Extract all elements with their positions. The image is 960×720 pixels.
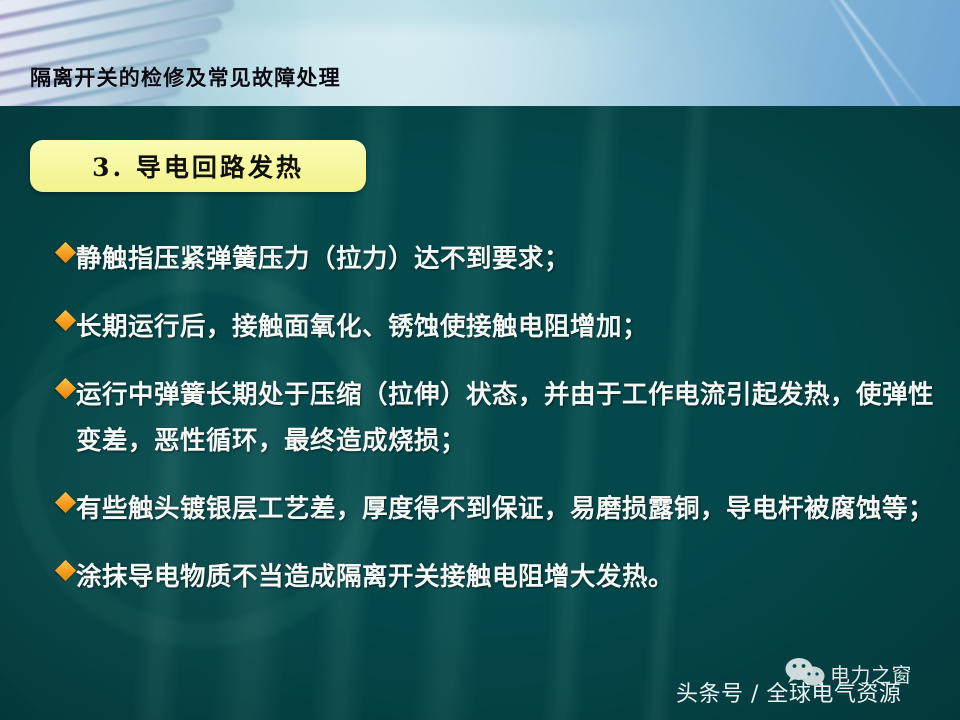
list-item: 涂抹导电物质不当造成隔离开关接触电阻增大发热。 [58, 554, 938, 600]
diamond-bullet-icon [55, 492, 76, 513]
wechat-account-name: 电力之窗 [830, 659, 912, 688]
slide-header-band: 隔离开关的检修及常见故障处理 [0, 0, 960, 106]
section-heading-chip: 3. 导电回路发热 [30, 140, 366, 192]
section-heading-text: 3. 导电回路发热 [92, 148, 304, 184]
list-item: 长期运行后，接触面氧化、锈蚀使接触电阻增加； [58, 304, 938, 350]
list-item-text: 涂抹导电物质不当造成隔离开关接触电阻增大发热。 [76, 554, 674, 600]
list-item-text: 运行中弹簧长期处于压缩（拉伸）状态，并由于工作电流引起发热，使弹性变差，恶性循环… [76, 372, 938, 464]
page-title: 隔离开关的检修及常见故障处理 [30, 62, 341, 92]
bullet-list: 静触指压紧弹簧压力（拉力）达不到要求； 长期运行后，接触面氧化、锈蚀使接触电阻增… [58, 236, 938, 622]
list-item-text: 有些触头镀银层工艺差，厚度得不到保证，易磨损露铜，导电杆被腐蚀等； [76, 486, 934, 532]
list-item-text: 长期运行后，接触面氧化、锈蚀使接触电阻增加； [76, 304, 648, 350]
diamond-bullet-icon [55, 310, 76, 331]
diamond-bullet-icon [55, 242, 76, 263]
diamond-bullet-icon [55, 378, 76, 399]
list-item-text: 静触指压紧弹簧压力（拉力）达不到要求； [76, 236, 570, 282]
list-item: 有些触头镀银层工艺差，厚度得不到保证，易磨损露铜，导电杆被腐蚀等； [58, 486, 938, 532]
wechat-watermark: 电力之窗 [784, 656, 912, 690]
list-item: 运行中弹簧长期处于压缩（拉伸）状态，并由于工作电流引起发热，使弹性变差，恶性循环… [58, 372, 938, 464]
presentation-slide: 隔离开关的检修及常见故障处理 3. 导电回路发热 静触指压紧弹簧压力（拉力）达不… [0, 0, 960, 720]
wechat-logo-icon [784, 656, 828, 690]
diamond-bullet-icon [55, 560, 76, 581]
list-item: 静触指压紧弹簧压力（拉力）达不到要求； [58, 236, 938, 282]
